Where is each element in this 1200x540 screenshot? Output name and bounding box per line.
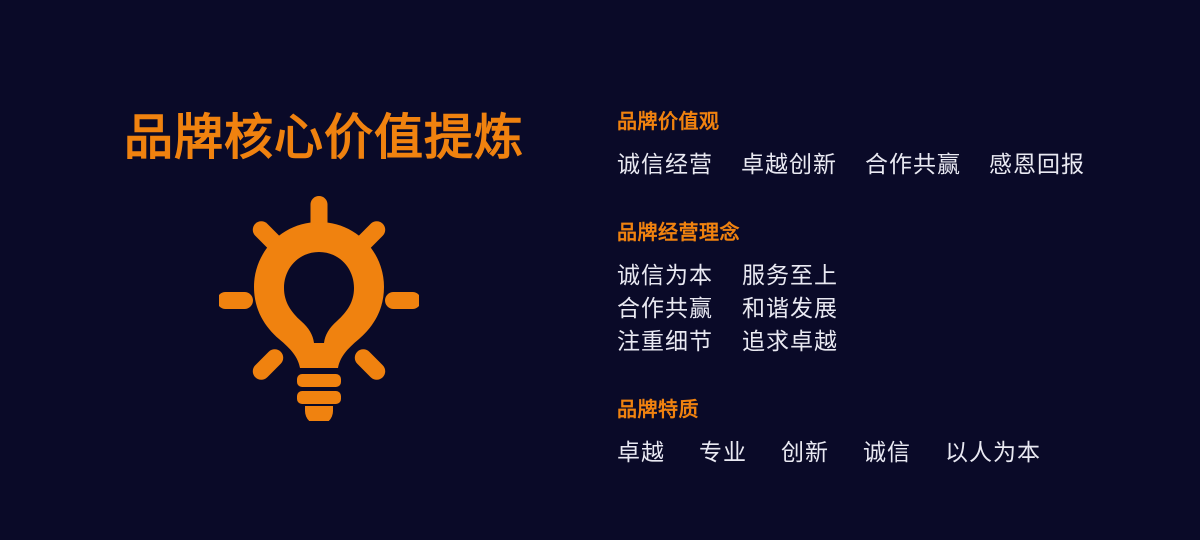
list-item: 专业 [699, 436, 747, 469]
list-item: 创新 [781, 436, 829, 469]
list-item: 追求卓越 [742, 325, 838, 358]
trait-item-list: 卓越 专业 创新 诚信 以人为本 [617, 436, 1041, 469]
list-item: 感恩回报 [989, 148, 1085, 181]
list-item: 诚信为本 [617, 259, 742, 292]
section-brand-philosophy: 品牌经营理念 诚信为本 服务至上 合作共赢 和谐发展 注重细节 追求卓越 [617, 221, 838, 358]
right-panel: 品牌价值观 诚信经营 卓越创新 合作共赢 感恩回报 品牌经营理念 诚信为本 服务… [590, 0, 1200, 540]
section-brand-values: 品牌价值观 诚信经营 卓越创新 合作共赢 感恩回报 [617, 110, 1085, 181]
list-item: 和谐发展 [742, 292, 838, 325]
list-item: 卓越 [617, 436, 665, 469]
left-panel: 品牌核心价值提炼 [0, 0, 590, 540]
slide-canvas: 品牌核心价值提炼 [0, 0, 1200, 540]
list-item: 以人为本 [945, 436, 1041, 469]
list-item: 服务至上 [742, 259, 838, 292]
page-title: 品牌核心价值提炼 [124, 112, 524, 166]
list-item: 诚信经营 [617, 148, 713, 181]
list-item: 合作共赢 [617, 292, 742, 325]
section-heading: 品牌价值观 [617, 110, 1085, 134]
list-item: 合作共赢 [865, 148, 961, 181]
section-heading: 品牌特质 [617, 398, 1041, 422]
list-item: 诚信 [863, 436, 911, 469]
philosophy-item-grid: 诚信为本 服务至上 合作共赢 和谐发展 注重细节 追求卓越 [617, 259, 838, 358]
lightbulb-icon [219, 196, 419, 421]
list-item: 注重细节 [617, 325, 742, 358]
list-item: 卓越创新 [741, 148, 837, 181]
section-brand-traits: 品牌特质 卓越 专业 创新 诚信 以人为本 [617, 398, 1041, 469]
section-heading: 品牌经营理念 [617, 221, 838, 245]
value-item-list: 诚信经营 卓越创新 合作共赢 感恩回报 [617, 148, 1085, 181]
